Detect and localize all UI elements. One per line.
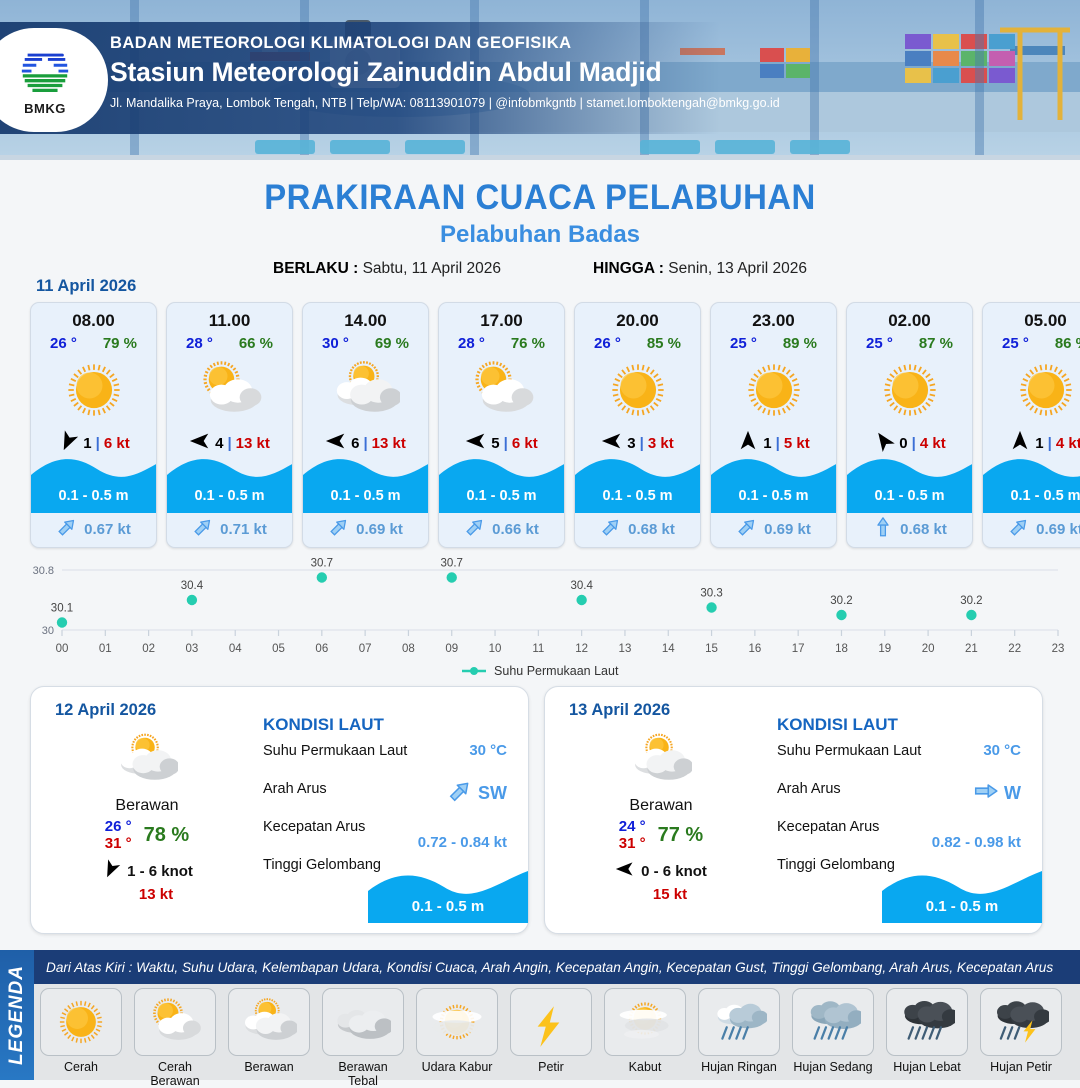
wind-direction-value: 0 [899, 435, 907, 452]
panel-date: 12 April 2026 [55, 701, 156, 720]
legend-item-label: Berawan [228, 1060, 310, 1074]
panel-wind-row: 1 - 6 knot [47, 859, 247, 884]
legend-item: Petir [510, 988, 592, 1088]
card-current-row: 0.68 kt [847, 516, 972, 543]
panel-gust: 15 kt [561, 886, 761, 903]
weather-cerah-icon [983, 354, 1080, 426]
svg-text:03: 03 [186, 643, 199, 655]
sea-conditions-title: KONDISI LAUT [263, 715, 513, 735]
current-direction-arrow-icon [447, 778, 473, 809]
legend-note: Dari Atas Kiri : Waktu, Suhu Udara, Kele… [46, 960, 1053, 975]
card-temperature: 26 ° [50, 335, 77, 352]
current-direction-arrow-icon [872, 516, 894, 543]
daily-forecast-panel: 12 April 2026 Berawan 26 ° 31 ° [30, 686, 529, 934]
current-speed-value: 0.82 - 0.98 kt [932, 834, 1021, 851]
wave-height-value: 0.1 - 0.5 m [167, 488, 292, 504]
card-time: 14.00 [303, 311, 428, 331]
wind-gust-speed: 5 kt [784, 435, 810, 452]
svg-text:13: 13 [619, 643, 632, 655]
current-speed-label: Kecepatan Arus [263, 819, 365, 835]
card-current-row: 0.69 kt [303, 516, 428, 543]
valid-from-label: BERLAKU : [273, 260, 358, 277]
card-time: 02.00 [847, 311, 972, 331]
chart-legend-label: Suhu Permukaan Laut [494, 664, 618, 678]
wind-separator: | [96, 435, 100, 452]
wind-gust-speed: 6 kt [104, 435, 130, 452]
svg-text:30.1: 30.1 [51, 603, 73, 615]
wave-height-value: 0.1 - 0.5 m [439, 488, 564, 504]
wind-separator: | [776, 435, 780, 452]
card-humidity: 87 % [919, 335, 953, 352]
legend-item-label: Cerah [40, 1060, 122, 1074]
hourly-card: 11.00 28 ° 66 % 4 | 13 kt 0.1 [166, 302, 293, 548]
weather-berawan-tebal-icon [322, 988, 404, 1056]
legend-section: LEGENDA Dari Atas Kiri : Waktu, Suhu Uda… [0, 950, 1080, 1080]
card-temperature: 28 ° [186, 335, 213, 352]
svg-text:06: 06 [315, 643, 328, 655]
svg-text:21: 21 [965, 643, 978, 655]
wave-height-label: Tinggi Gelombang [263, 857, 381, 873]
card-wave-zone: 0.1 - 0.5 m [983, 453, 1080, 513]
legend-sidebar: LEGENDA [0, 950, 34, 1080]
svg-text:16: 16 [748, 643, 761, 655]
current-speed-value: 0.67 kt [84, 521, 131, 538]
svg-text:20: 20 [922, 643, 935, 655]
card-temp-hum-row: 30 ° 69 % [303, 335, 428, 352]
legend-item: Berawan Tebal [322, 988, 404, 1088]
card-humidity: 66 % [239, 335, 273, 352]
legend-item-label: Berawan Tebal [322, 1060, 404, 1088]
card-time: 23.00 [711, 311, 836, 331]
legend-item: Udara Kabur [416, 988, 498, 1088]
valid-until-label: HINGGA : [593, 260, 664, 277]
sst-row: Suhu Permukaan Laut 30 °C [263, 742, 513, 780]
weather-cerah-icon [31, 354, 156, 426]
valid-from-value: Sabtu, 11 April 2026 [363, 260, 501, 277]
card-humidity: 79 % [103, 335, 137, 352]
current-speed-label: Kecepatan Arus [777, 819, 879, 835]
svg-text:30.7: 30.7 [441, 558, 463, 570]
page-title: PRAKIRAAN CUACA PELABUHAN [32, 178, 1047, 218]
panel-wind-row: 0 - 6 knot [561, 859, 761, 884]
legend-item-label: Hujan Ringan [698, 1060, 780, 1074]
weather-cerah-icon [40, 988, 122, 1056]
card-time: 20.00 [575, 311, 700, 331]
current-direction-label: Arah Arus [777, 781, 841, 797]
card-wave-zone: 0.1 - 0.5 m [31, 453, 156, 513]
current-speed-row: Kecepatan Arus 0.72 - 0.84 kt [263, 818, 513, 856]
svg-text:30.4: 30.4 [570, 580, 593, 592]
svg-text:30: 30 [42, 625, 54, 637]
current-direction-value-group: W [973, 778, 1021, 809]
current-direction-value: SW [478, 783, 507, 804]
wind-direction-value: 3 [627, 435, 635, 452]
wind-gust-speed: 4 kt [920, 435, 946, 452]
panel-gust: 13 kt [47, 886, 247, 903]
svg-text:18: 18 [835, 643, 848, 655]
sea-conditions-title: KONDISI LAUT [777, 715, 1027, 735]
wind-direction-arrow-icon [615, 859, 635, 884]
daily-forecast-panels: 12 April 2026 Berawan 26 ° 31 ° [30, 686, 1043, 934]
legend-item-label: Kabut [604, 1060, 686, 1074]
card-temp-hum-row: 25 ° 86 % [983, 335, 1080, 352]
wind-direction-value: 1 [1035, 435, 1043, 452]
svg-text:14: 14 [662, 643, 675, 655]
sst-row: Suhu Permukaan Laut 30 °C [777, 742, 1027, 780]
card-current-row: 0.69 kt [711, 516, 836, 543]
hourly-forecast-row: 08.00 26 ° 79 % 1 | 6 kt 0.1 - 0.5 m [30, 302, 1080, 548]
hourly-card: 05.00 25 ° 86 % 1 | 4 kt 0.1 - 0.5 m [982, 302, 1080, 548]
card-temperature: 28 ° [458, 335, 485, 352]
panel-wave-graphic: 0.1 - 0.5 m [882, 865, 1042, 923]
current-speed-value: 0.68 kt [628, 521, 675, 538]
weather-hujan-ringan-icon [698, 988, 780, 1056]
hourly-card: 20.00 26 ° 85 % 3 | 3 kt 0.1 - 0.5 m [574, 302, 701, 548]
panel-temperatures: 26 ° 31 ° [105, 818, 132, 853]
current-direction-arrow-icon [464, 516, 486, 543]
current-speed-value: 0.69 kt [1036, 521, 1080, 538]
sst-label: Suhu Permukaan Laut [777, 743, 921, 759]
weather-kabut-icon [604, 988, 686, 1056]
svg-text:30.3: 30.3 [700, 588, 722, 600]
wind-separator: | [227, 435, 231, 452]
weather-udara-kabur-icon [416, 988, 498, 1056]
agency-name: BADAN METEOROLOGI KLIMATOLOGI DAN GEOFIS… [110, 34, 780, 53]
wave-height-value: 0.1 - 0.5 m [31, 488, 156, 504]
card-temperature: 25 ° [730, 335, 757, 352]
legend-item-label: Udara Kabur [416, 1060, 498, 1074]
current-speed-value: 0.66 kt [492, 521, 539, 538]
wind-direction-value: 1 [83, 435, 91, 452]
svg-text:17: 17 [792, 643, 805, 655]
weather-hujan-petir-icon [980, 988, 1062, 1056]
card-time: 11.00 [167, 311, 292, 331]
weather-petir-icon [510, 988, 592, 1056]
current-speed-row: Kecepatan Arus 0.82 - 0.98 kt [777, 818, 1027, 856]
sst-label: Suhu Permukaan Laut [263, 743, 407, 759]
wave-height-value: 0.1 - 0.5 m [983, 488, 1080, 504]
panel-temperatures: 24 ° 31 ° [619, 818, 646, 853]
svg-text:05: 05 [272, 643, 285, 655]
svg-text:04: 04 [229, 643, 242, 655]
card-wave-zone: 0.1 - 0.5 m [439, 453, 564, 513]
card-temp-hum-row: 28 ° 76 % [439, 335, 564, 352]
svg-text:10: 10 [489, 643, 502, 655]
svg-text:30.8: 30.8 [33, 565, 54, 577]
card-temp-hum-row: 25 ° 87 % [847, 335, 972, 352]
legend-sidebar-title: LEGENDA [6, 965, 28, 1065]
svg-text:23: 23 [1052, 643, 1064, 655]
valid-until-value: Senin, 13 April 2026 [668, 260, 807, 277]
card-temperature: 25 ° [866, 335, 893, 352]
validity-row: BERLAKU : Sabtu, 11 April 2026 HINGGA : … [0, 260, 1080, 278]
current-direction-arrow-icon [56, 516, 78, 543]
current-direction-arrow-icon [736, 516, 758, 543]
legend-item: Kabut [604, 988, 686, 1088]
card-humidity: 89 % [783, 335, 817, 352]
panel-humidity: 78 % [144, 824, 190, 847]
card-current-row: 0.66 kt [439, 516, 564, 543]
wind-separator: | [1048, 435, 1052, 452]
current-direction-value: W [1004, 783, 1021, 804]
svg-text:02: 02 [142, 643, 155, 655]
panel-temp-hum-row: 26 ° 31 ° 78 % [47, 818, 247, 853]
current-direction-arrow-icon [328, 516, 350, 543]
panel-humidity: 77 % [658, 824, 704, 847]
legend-item: Cerah Berawan [134, 988, 216, 1088]
card-time: 08.00 [31, 311, 156, 331]
current-direction-row: Arah Arus W [777, 780, 1027, 818]
svg-text:15: 15 [705, 643, 718, 655]
panel-wave-value: 0.1 - 0.5 m [882, 898, 1042, 915]
card-temperature: 26 ° [594, 335, 621, 352]
wave-height-label: Tinggi Gelombang [777, 857, 895, 873]
wind-direction-value: 5 [491, 435, 499, 452]
panel-temp-min: 24 ° [619, 818, 646, 835]
hourly-card: 08.00 26 ° 79 % 1 | 6 kt 0.1 - 0.5 m [30, 302, 157, 548]
current-direction-arrow-icon [600, 516, 622, 543]
weather-berawan-icon [561, 727, 761, 793]
weather-berawan-icon [228, 988, 310, 1056]
card-time: 17.00 [439, 311, 564, 331]
port-name: Pelabuhan Badas [0, 221, 1080, 249]
svg-text:12: 12 [575, 643, 588, 655]
svg-text:11: 11 [532, 643, 544, 655]
legend-item: Hujan Petir [980, 988, 1062, 1088]
title-block: PRAKIRAAN CUACA PELABUHAN Pelabuhan Bada… [0, 178, 1080, 278]
panel-summary: Berawan 26 ° 31 ° 78 % 1 - 6 knot 13 kt [47, 727, 247, 903]
wind-gust-speed: 13 kt [372, 435, 406, 452]
station-name: Stasiun Meteorologi Zainuddin Abdul Madj… [110, 57, 780, 88]
legend-item-label: Hujan Petir [980, 1060, 1062, 1074]
current-direction-value-group: SW [447, 778, 507, 809]
wind-direction-value: 1 [763, 435, 771, 452]
wave-height-value: 0.1 - 0.5 m [847, 488, 972, 504]
svg-text:30.2: 30.2 [830, 595, 852, 607]
card-humidity: 69 % [375, 335, 409, 352]
panel-temp-hum-row: 24 ° 31 ° 77 % [561, 818, 761, 853]
wind-gust-speed: 3 kt [648, 435, 674, 452]
wind-direction-value: 6 [351, 435, 359, 452]
hourly-card: 14.00 30 ° 69 % 6 | 13 kt [302, 302, 429, 548]
legend-items-row: Cerah Cerah Berawan [40, 988, 1062, 1088]
svg-text:00: 00 [56, 643, 69, 655]
panel-wind-range: 0 - 6 knot [641, 863, 707, 880]
legend-item: Hujan Ringan [698, 988, 780, 1088]
legend-item-label: Hujan Sedang [792, 1060, 874, 1074]
weather-hujan-sedang-icon [792, 988, 874, 1056]
wave-height-value: 0.1 - 0.5 m [303, 488, 428, 504]
current-direction-arrow-icon [973, 778, 999, 809]
svg-text:30.4: 30.4 [181, 580, 204, 592]
page-header: BMKG BADAN METEOROLOGI KLIMATOLOGI DAN G… [0, 0, 1080, 160]
hourly-card: 02.00 25 ° 87 % 0 | 4 kt 0.1 - 0.5 m [846, 302, 973, 548]
card-wave-zone: 0.1 - 0.5 m [167, 453, 292, 513]
valid-until: HINGGA : Senin, 13 April 2026 [593, 260, 807, 278]
card-wave-zone: 0.1 - 0.5 m [711, 453, 836, 513]
svg-text:22: 22 [1008, 643, 1021, 655]
card-humidity: 85 % [647, 335, 681, 352]
weather-berawan-icon [47, 727, 247, 793]
wind-direction-value: 4 [215, 435, 223, 452]
header-text-block: BADAN METEOROLOGI KLIMATOLOGI DAN GEOFIS… [110, 34, 780, 110]
card-current-row: 0.67 kt [31, 516, 156, 543]
card-temp-hum-row: 28 ° 66 % [167, 335, 292, 352]
card-wave-zone: 0.1 - 0.5 m [575, 453, 700, 513]
wave-height-value: 0.1 - 0.5 m [575, 488, 700, 504]
card-humidity: 76 % [511, 335, 545, 352]
wave-height-value: 0.1 - 0.5 m [711, 488, 836, 504]
hourly-date-label: 11 April 2026 [36, 277, 136, 296]
panel-date: 13 April 2026 [569, 701, 670, 720]
current-direction-arrow-icon [192, 516, 214, 543]
weather-hujan-lebat-icon [886, 988, 968, 1056]
card-temp-hum-row: 26 ° 79 % [31, 335, 156, 352]
card-current-row: 0.68 kt [575, 516, 700, 543]
bmkg-logo-mark [16, 44, 74, 100]
wind-separator: | [640, 435, 644, 452]
wind-direction-arrow-icon [101, 859, 121, 884]
legend-item: Hujan Lebat [886, 988, 968, 1088]
wind-gust-speed: 6 kt [512, 435, 538, 452]
chart-legend: Suhu Permukaan Laut [0, 664, 1080, 679]
panel-temp-min: 26 ° [105, 818, 132, 835]
weather-cerah-berawan-icon [439, 354, 564, 426]
weather-cerah-icon [575, 354, 700, 426]
legend-item-label: Petir [510, 1060, 592, 1074]
legend-item: Berawan [228, 988, 310, 1088]
legend-note-bar: Dari Atas Kiri : Waktu, Suhu Udara, Kele… [34, 950, 1080, 984]
wind-gust-speed: 4 kt [1056, 435, 1080, 452]
card-wave-zone: 0.1 - 0.5 m [303, 453, 428, 513]
legend-item: Cerah [40, 988, 122, 1088]
current-direction-arrow-icon [1008, 516, 1030, 543]
weather-cerah-icon [847, 354, 972, 426]
card-temperature: 25 ° [1002, 335, 1029, 352]
panel-summary: Berawan 24 ° 31 ° 77 % 0 - 6 knot 15 kt [561, 727, 761, 903]
panel-condition: Berawan [47, 797, 247, 815]
card-temperature: 30 ° [322, 335, 349, 352]
sst-value: 30 °C [983, 742, 1021, 759]
card-temp-hum-row: 25 ° 89 % [711, 335, 836, 352]
card-time: 05.00 [983, 311, 1080, 331]
weather-cerah-icon [711, 354, 836, 426]
daily-forecast-panel: 13 April 2026 Berawan 24 ° 31 ° [544, 686, 1043, 934]
svg-text:09: 09 [445, 643, 458, 655]
legend-item-label: Cerah Berawan [134, 1060, 216, 1088]
weather-berawan-icon [303, 354, 428, 426]
current-speed-value: 0.71 kt [220, 521, 267, 538]
chart-legend-swatch [462, 665, 486, 679]
panel-wind-range: 1 - 6 knot [127, 863, 193, 880]
current-direction-row: Arah Arus SW [263, 780, 513, 818]
card-current-row: 0.69 kt [983, 516, 1080, 543]
wind-separator: | [912, 435, 916, 452]
panel-wave-graphic: 0.1 - 0.5 m [368, 865, 528, 923]
valid-from: BERLAKU : Sabtu, 11 April 2026 [273, 260, 501, 278]
panel-temp-max: 31 ° [619, 835, 646, 852]
panel-temp-max: 31 ° [105, 835, 132, 852]
legend-item-label: Hujan Lebat [886, 1060, 968, 1074]
contact-line: Jl. Mandalika Praya, Lombok Tengah, NTB … [110, 96, 780, 110]
current-direction-label: Arah Arus [263, 781, 327, 797]
wind-separator: | [363, 435, 367, 452]
panel-condition: Berawan [561, 797, 761, 815]
card-humidity: 86 % [1055, 335, 1080, 352]
svg-text:19: 19 [878, 643, 891, 655]
hourly-card: 17.00 28 ° 76 % 5 | 6 kt 0.1 - [438, 302, 565, 548]
current-speed-value: 0.69 kt [764, 521, 811, 538]
card-wave-zone: 0.1 - 0.5 m [847, 453, 972, 513]
hourly-card: 23.00 25 ° 89 % 1 | 5 kt 0.1 - 0.5 m [710, 302, 837, 548]
svg-text:08: 08 [402, 643, 415, 655]
current-speed-value: 0.68 kt [900, 521, 947, 538]
wind-separator: | [504, 435, 508, 452]
svg-text:07: 07 [359, 643, 372, 655]
card-current-row: 0.71 kt [167, 516, 292, 543]
sst-value: 30 °C [469, 742, 507, 759]
svg-text:30.7: 30.7 [311, 558, 333, 570]
panel-wave-value: 0.1 - 0.5 m [368, 898, 528, 915]
weather-cerah-berawan-icon [134, 988, 216, 1056]
current-speed-value: 0.69 kt [356, 521, 403, 538]
wind-gust-speed: 13 kt [236, 435, 270, 452]
legend-item: Hujan Sedang [792, 988, 874, 1088]
current-speed-value: 0.72 - 0.84 kt [418, 834, 507, 851]
bmkg-logo: BMKG [0, 28, 108, 132]
card-temp-hum-row: 26 ° 85 % [575, 335, 700, 352]
svg-text:01: 01 [99, 643, 112, 655]
weather-cerah-berawan-icon [167, 354, 292, 426]
bmkg-logo-text: BMKG [24, 101, 66, 116]
svg-text:30.2: 30.2 [960, 595, 982, 607]
